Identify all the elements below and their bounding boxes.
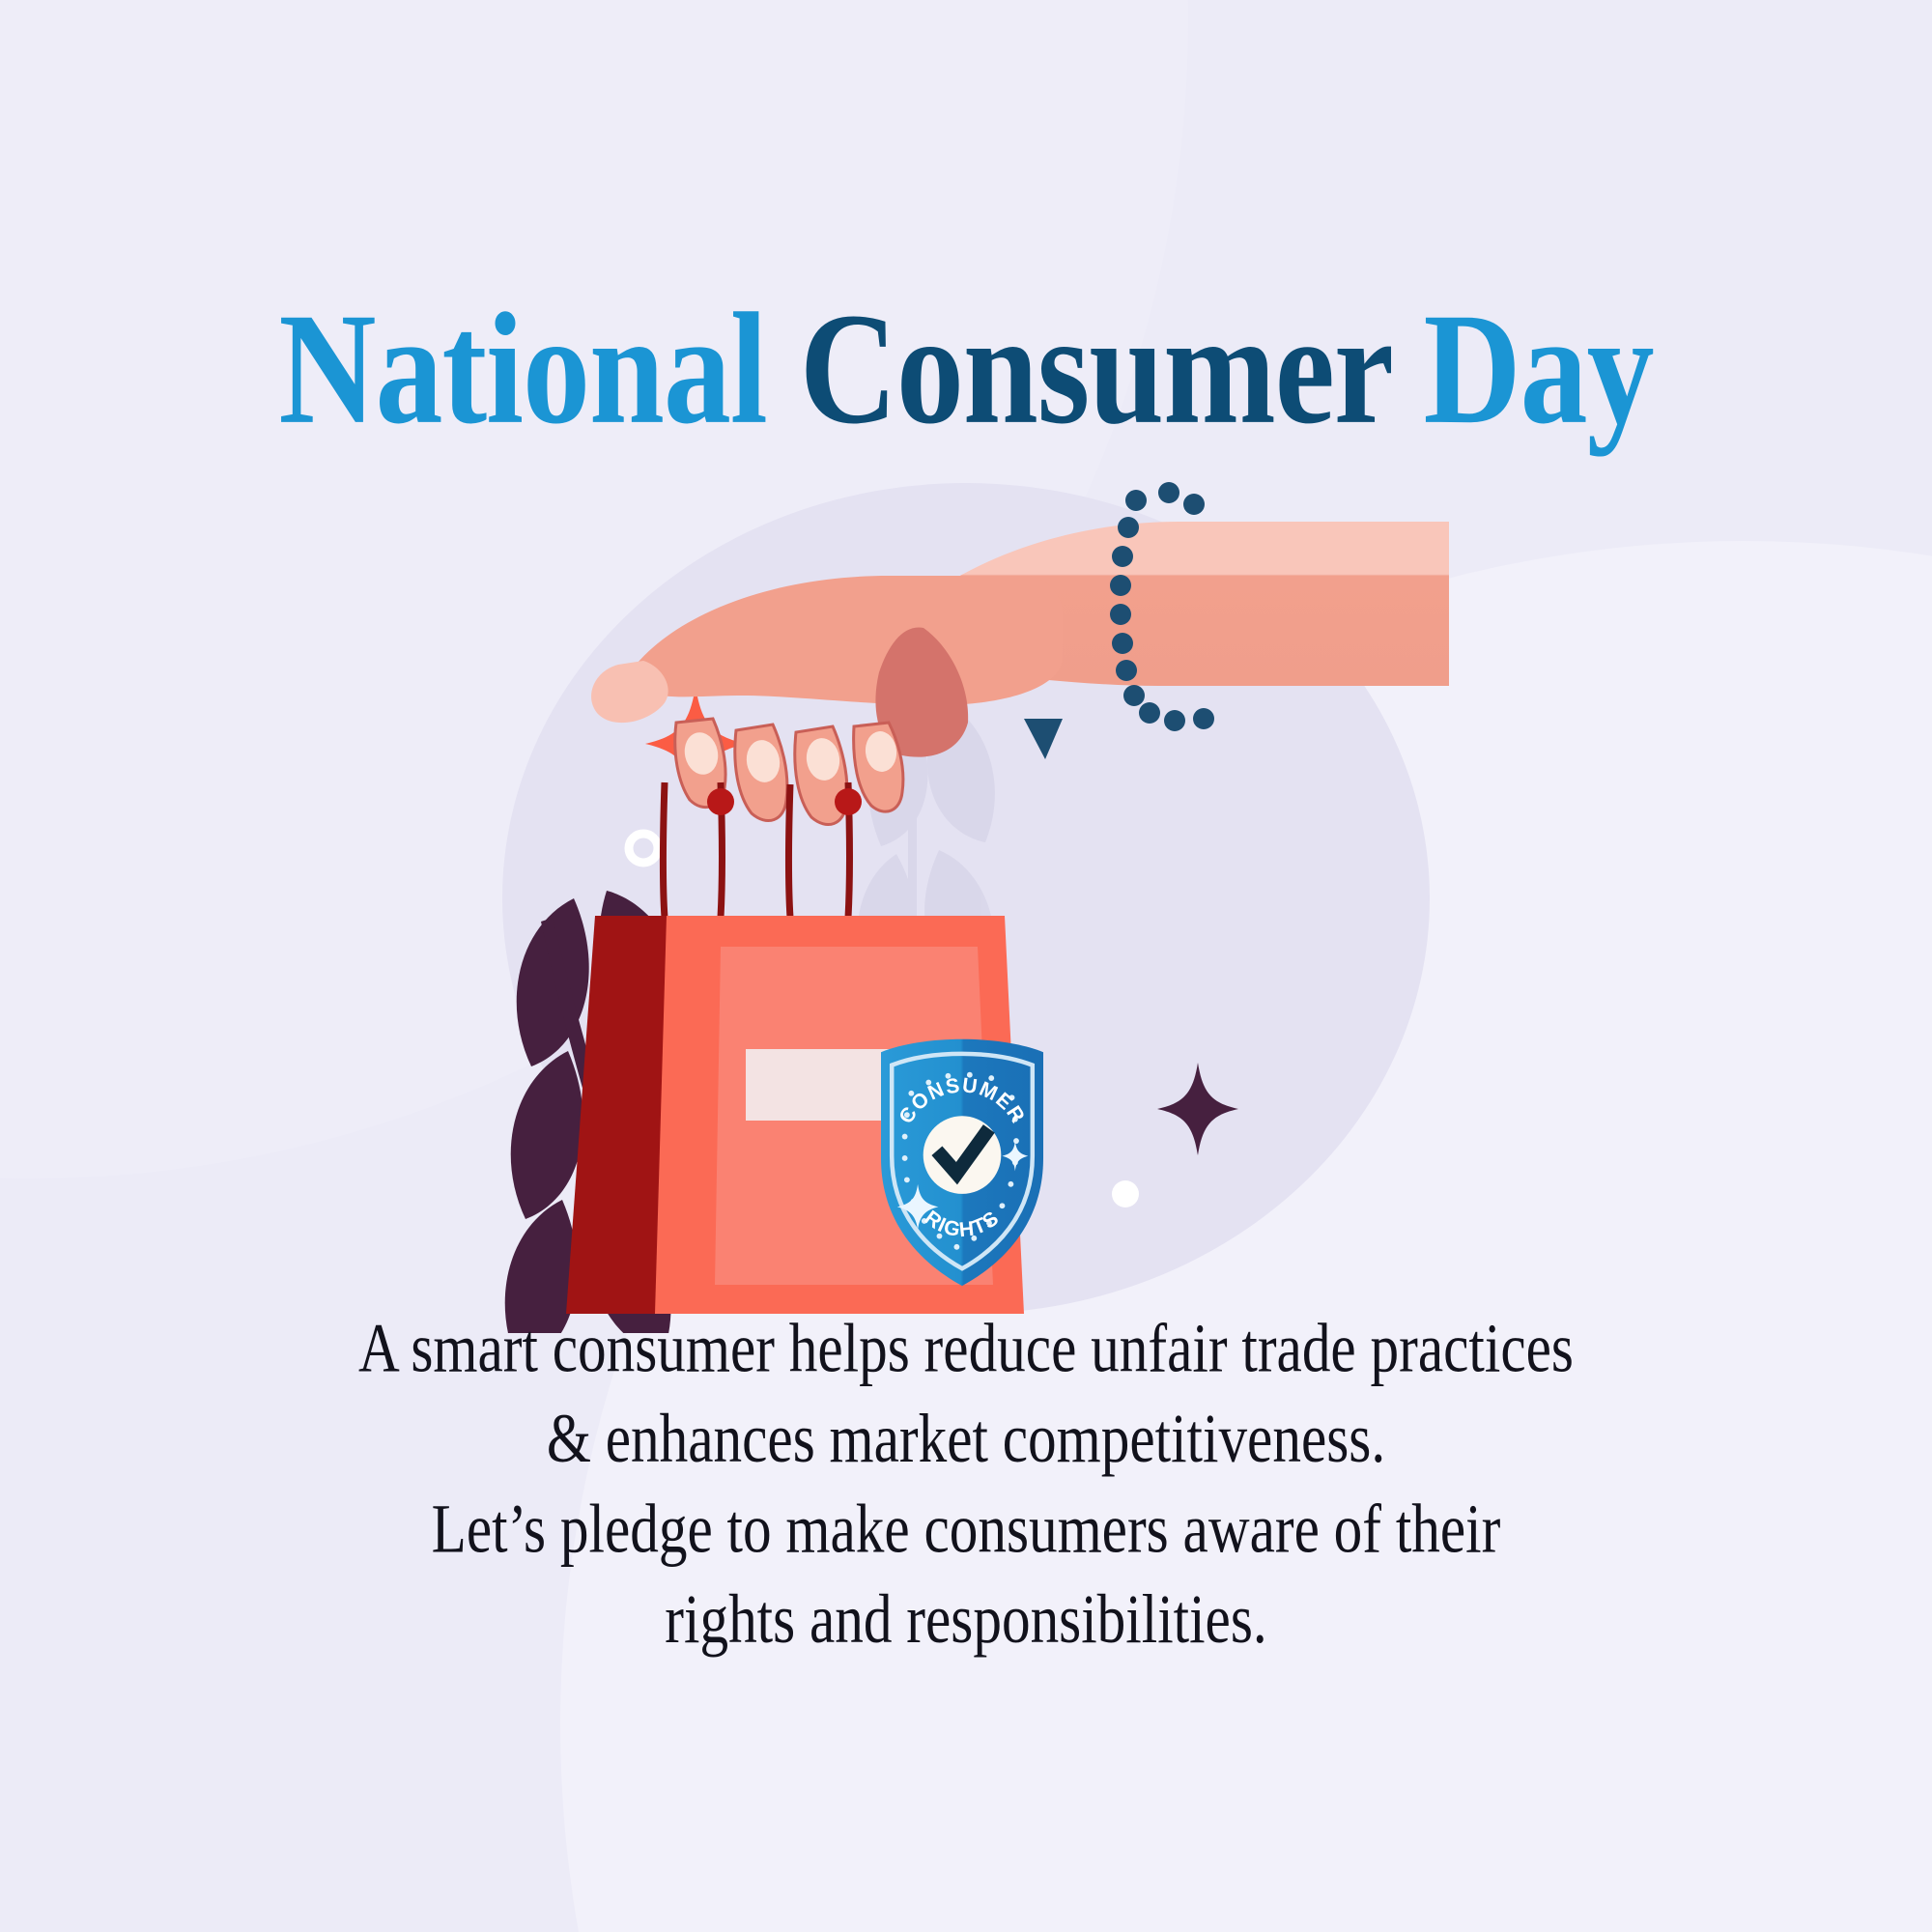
poster-canvas: National Consumer Day (0, 0, 1932, 1932)
sparkle-purple-icon (1157, 1063, 1238, 1155)
page-title: National Consumer Day (0, 290, 1932, 449)
title-word-national: National (278, 281, 766, 458)
message-text: A smart consumer helps reduce unfair tra… (240, 1304, 1692, 1664)
hand-illustration (591, 482, 1449, 825)
message-line-3: Let’s pledge to make consumers aware of … (240, 1485, 1692, 1575)
message-line-1: A smart consumer helps reduce unfair tra… (240, 1304, 1692, 1394)
message-line-2: & enhances market competitiveness. (240, 1394, 1692, 1484)
message-line-4: rights and responsibilities. (240, 1575, 1692, 1664)
title-word-day: Day (1423, 281, 1653, 458)
hero-illustration: CONSUMER RIGHTS (483, 464, 1449, 1333)
ring-white-icon (629, 834, 658, 863)
dot-white-icon (1112, 1180, 1139, 1207)
title-word-consumer: Consumer (800, 281, 1391, 458)
